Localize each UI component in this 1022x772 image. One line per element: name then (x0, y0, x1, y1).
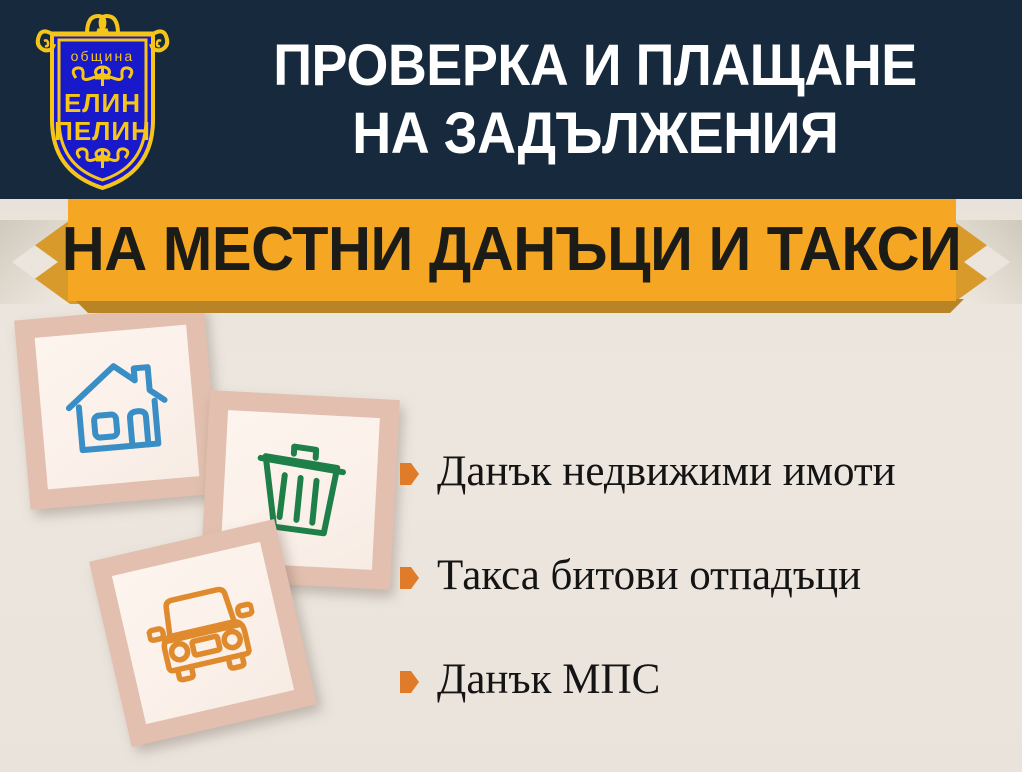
logo-text-elin: ЕЛИН (64, 88, 141, 118)
poster-canvas: НА МЕСТНИ ДАНЪЦИ И ТАКСИ ПРОВЕРКА И ПЛАЩ… (0, 0, 1022, 772)
list-item-label: Такса битови отпадъци (437, 552, 861, 600)
ribbon-text: НА МЕСТНИ ДАНЪЦИ И ТАКСИ (62, 219, 962, 281)
ribbon-shadow (74, 299, 964, 313)
ribbon-banner: НА МЕСТНИ ДАНЪЦИ И ТАКСИ (0, 199, 1022, 309)
logo-text-pelin: ПЕЛИН (54, 116, 151, 146)
page-title-line-1: ПРОВЕРКА И ПЛАЩАНЕ (273, 32, 917, 100)
page-title: ПРОВЕРКА И ПЛАЩАНЕ НА ЗАДЪЛЖЕНИЯ (185, 20, 1005, 180)
page-title-line-2: НА ЗАДЪЛЖЕНИЯ (352, 100, 838, 168)
list-item-label: Данък недвижими имоти (437, 448, 896, 496)
tax-type-list: Данък недвижими имоти Такса битови отпад… (400, 420, 1010, 732)
house-icon (35, 325, 200, 490)
arrow-bullet-icon (400, 567, 419, 589)
stamp-card-group (0, 300, 420, 772)
list-item-label: Данък МПС (437, 656, 660, 704)
list-item: Данък недвижими имоти (400, 420, 1010, 524)
municipality-logo: община ЕЛИН ПЕЛИН (30, 8, 175, 193)
arrow-bullet-icon (400, 463, 419, 485)
stamp-card-property (14, 304, 220, 510)
list-item: Такса битови отпадъци (400, 524, 1010, 628)
logo-text-obshtina: община (71, 48, 135, 64)
ribbon-main-banner: НА МЕСТНИ ДАНЪЦИ И ТАКСИ (68, 199, 956, 301)
list-item: Данък МПС (400, 628, 1010, 732)
arrow-bullet-icon (400, 671, 419, 693)
